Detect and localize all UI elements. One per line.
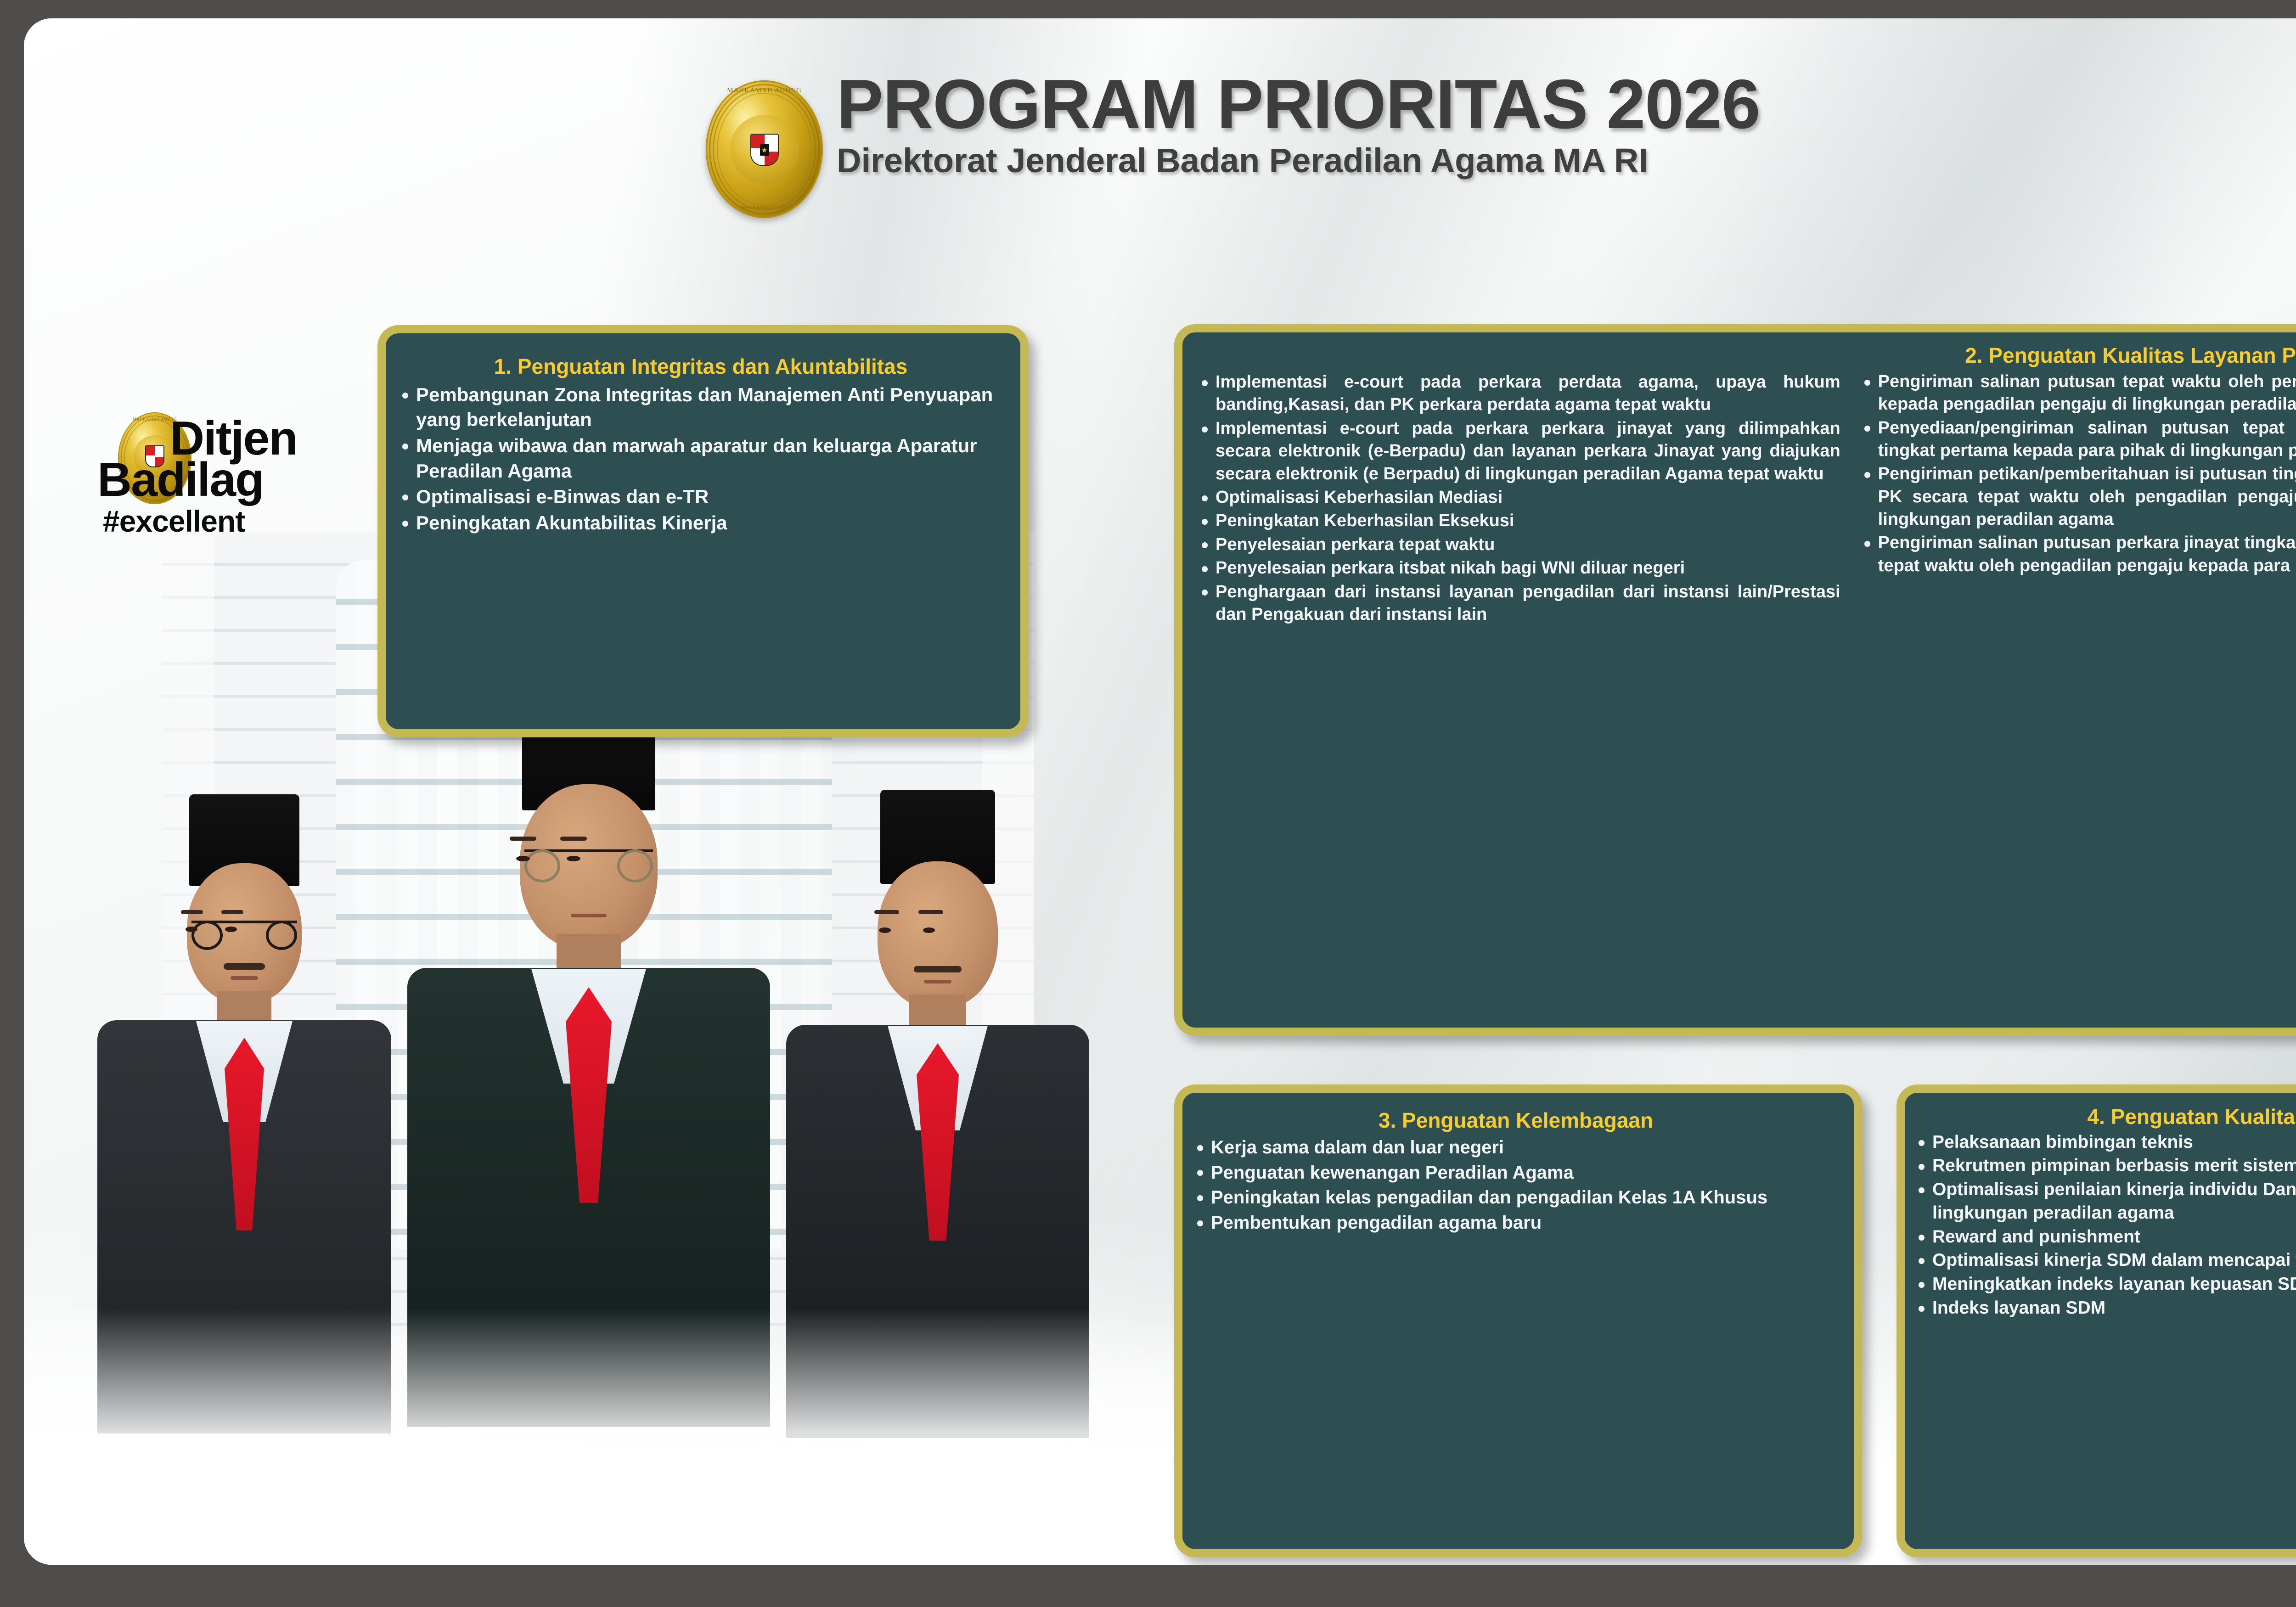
list-item: Rekrutmen pimpinan berbasis merit sistem xyxy=(1911,1154,2296,1178)
list-item: Peningkatan kelas pengadilan dan pengadi… xyxy=(1190,1186,1842,1210)
list-item: Optimalisasi Keberhasilan Mediasi xyxy=(1194,486,1840,509)
card-penguatan-kelembagaan[interactable]: 3. Penguatan Kelembagaan Kerja sama dala… xyxy=(1174,1084,1862,1557)
list-item: Peningkatan Keberhasilan Eksekusi xyxy=(1194,510,1840,532)
card-3-list: Kerja sama dalam dan luar negeri Penguat… xyxy=(1190,1135,1842,1235)
card-2-column-middle: 2. Penguatan Kualitas Layanan Pengadilan… xyxy=(1857,343,2296,1028)
list-item: Penyelesaian perkara itsbat nikah bagi W… xyxy=(1194,557,1840,579)
list-item: Optimalisasi kinerja SDM dalam mencapai … xyxy=(1911,1249,2296,1272)
poster-header: MAHKAMAH AGUNG ★ DHARMMAYUKTI PROGRAM PR… xyxy=(681,69,2296,266)
list-item: Implementasi e-court pada perkara perkar… xyxy=(1194,417,1840,485)
mahkamah-agung-seal-icon: MAHKAMAH AGUNG ★ DHARMMAYUKTI xyxy=(706,80,823,218)
card-4-title: 4. Penguatan Kualitas SDM xyxy=(1911,1106,2296,1128)
card-4-list: Pelaksanaan bimbingan teknis Rekrutmen p… xyxy=(1911,1131,2296,1320)
list-item: Pengiriman salinan putusan perkara jinay… xyxy=(1857,532,2296,577)
list-item: Pelaksanaan bimbingan teknis xyxy=(1911,1131,2296,1154)
list-item: Optimalisasi e-Binwas dan e-TR xyxy=(395,484,1007,510)
card-1-title: 1. Penguatan Integritas dan Akuntabilita… xyxy=(395,355,1007,378)
card-1-list: Pembangunan Zona Integritas dan Manajeme… xyxy=(395,382,1007,536)
list-item: Penyediaan/pengiriman salinan putusan te… xyxy=(1857,417,2296,462)
card-penguatan-kualitas-layanan[interactable]: Implementasi e-court pada perkara perdat… xyxy=(1174,324,2296,1036)
card-penguatan-kualitas-sdm[interactable]: 4. Penguatan Kualitas SDM Pelaksanaan bi… xyxy=(1896,1084,2296,1557)
photo-bottom-fade xyxy=(24,1309,1199,1565)
card-2-list-left: Implementasi e-court pada perkara perdat… xyxy=(1194,371,1840,626)
list-item: Reward and punishment xyxy=(1911,1225,2296,1249)
card-2-column-left: Implementasi e-court pada perkara perdat… xyxy=(1194,343,1840,1028)
list-item: Pembentukan pengadilan agama baru xyxy=(1190,1211,1842,1235)
seal-rim-text: MAHKAMAH AGUNG xyxy=(706,87,823,95)
list-item: Pengiriman petikan/pemberitahuan isi put… xyxy=(1857,463,2296,531)
logo-line-excellent: #excellent xyxy=(103,508,245,535)
list-item: Pengiriman salinan putusan tepat waktu o… xyxy=(1857,371,2296,416)
list-item: Implementasi e-court pada perkara perdat… xyxy=(1194,371,1840,416)
seal-motto-text: DHARMMAYUKTI xyxy=(706,205,823,211)
card-penguatan-integritas[interactable]: 1. Penguatan Integritas dan Akuntabilita… xyxy=(377,325,1029,737)
page-subtitle: Direktorat Jenderal Badan Peradilan Agam… xyxy=(837,143,1760,179)
list-item: Meningkatkan indeks layanan kepuasan SDM xyxy=(1911,1273,2296,1296)
list-item: Peningkatan Akuntabilitas Kinerja xyxy=(395,511,1007,536)
card-2-title: 2. Penguatan Kualitas Layanan Pengadilan xyxy=(1857,344,2296,367)
list-item: Indeks layanan SDM xyxy=(1911,1297,2296,1320)
list-item: Menjaga wibawa dan marwah aparatur dan k… xyxy=(395,433,1007,483)
card-2-list-middle: Pengiriman salinan putusan tepat waktu o… xyxy=(1857,371,2296,578)
list-item: Pembangunan Zona Integritas dan Manajeme… xyxy=(395,382,1007,433)
page-title: PROGRAM PRIORITAS 2026 xyxy=(837,69,1760,140)
list-item: Penguatan kewenangan Peradilan Agama xyxy=(1190,1161,1842,1185)
list-item: Penghargaan dari instansi layanan pengad… xyxy=(1194,581,1840,626)
poster-root: MAHKAMAH AGUNG ★ DHARMMAYUKTI PROGRAM PR… xyxy=(0,0,2296,1607)
list-item: Kerja sama dalam dan luar negeri xyxy=(1190,1135,1842,1160)
logo-line-badilag: Badilag xyxy=(97,459,264,501)
list-item: Optimalisasi penilaian kinerja individu … xyxy=(1911,1178,2296,1225)
list-item: Penyelesaian perkara tepat waktu xyxy=(1194,534,1840,556)
card-3-title: 3. Penguatan Kelembagaan xyxy=(1190,1109,1842,1132)
poster-canvas: MAHKAMAH AGUNG ★ DHARMMAYUKTI PROGRAM PR… xyxy=(24,18,2296,1565)
